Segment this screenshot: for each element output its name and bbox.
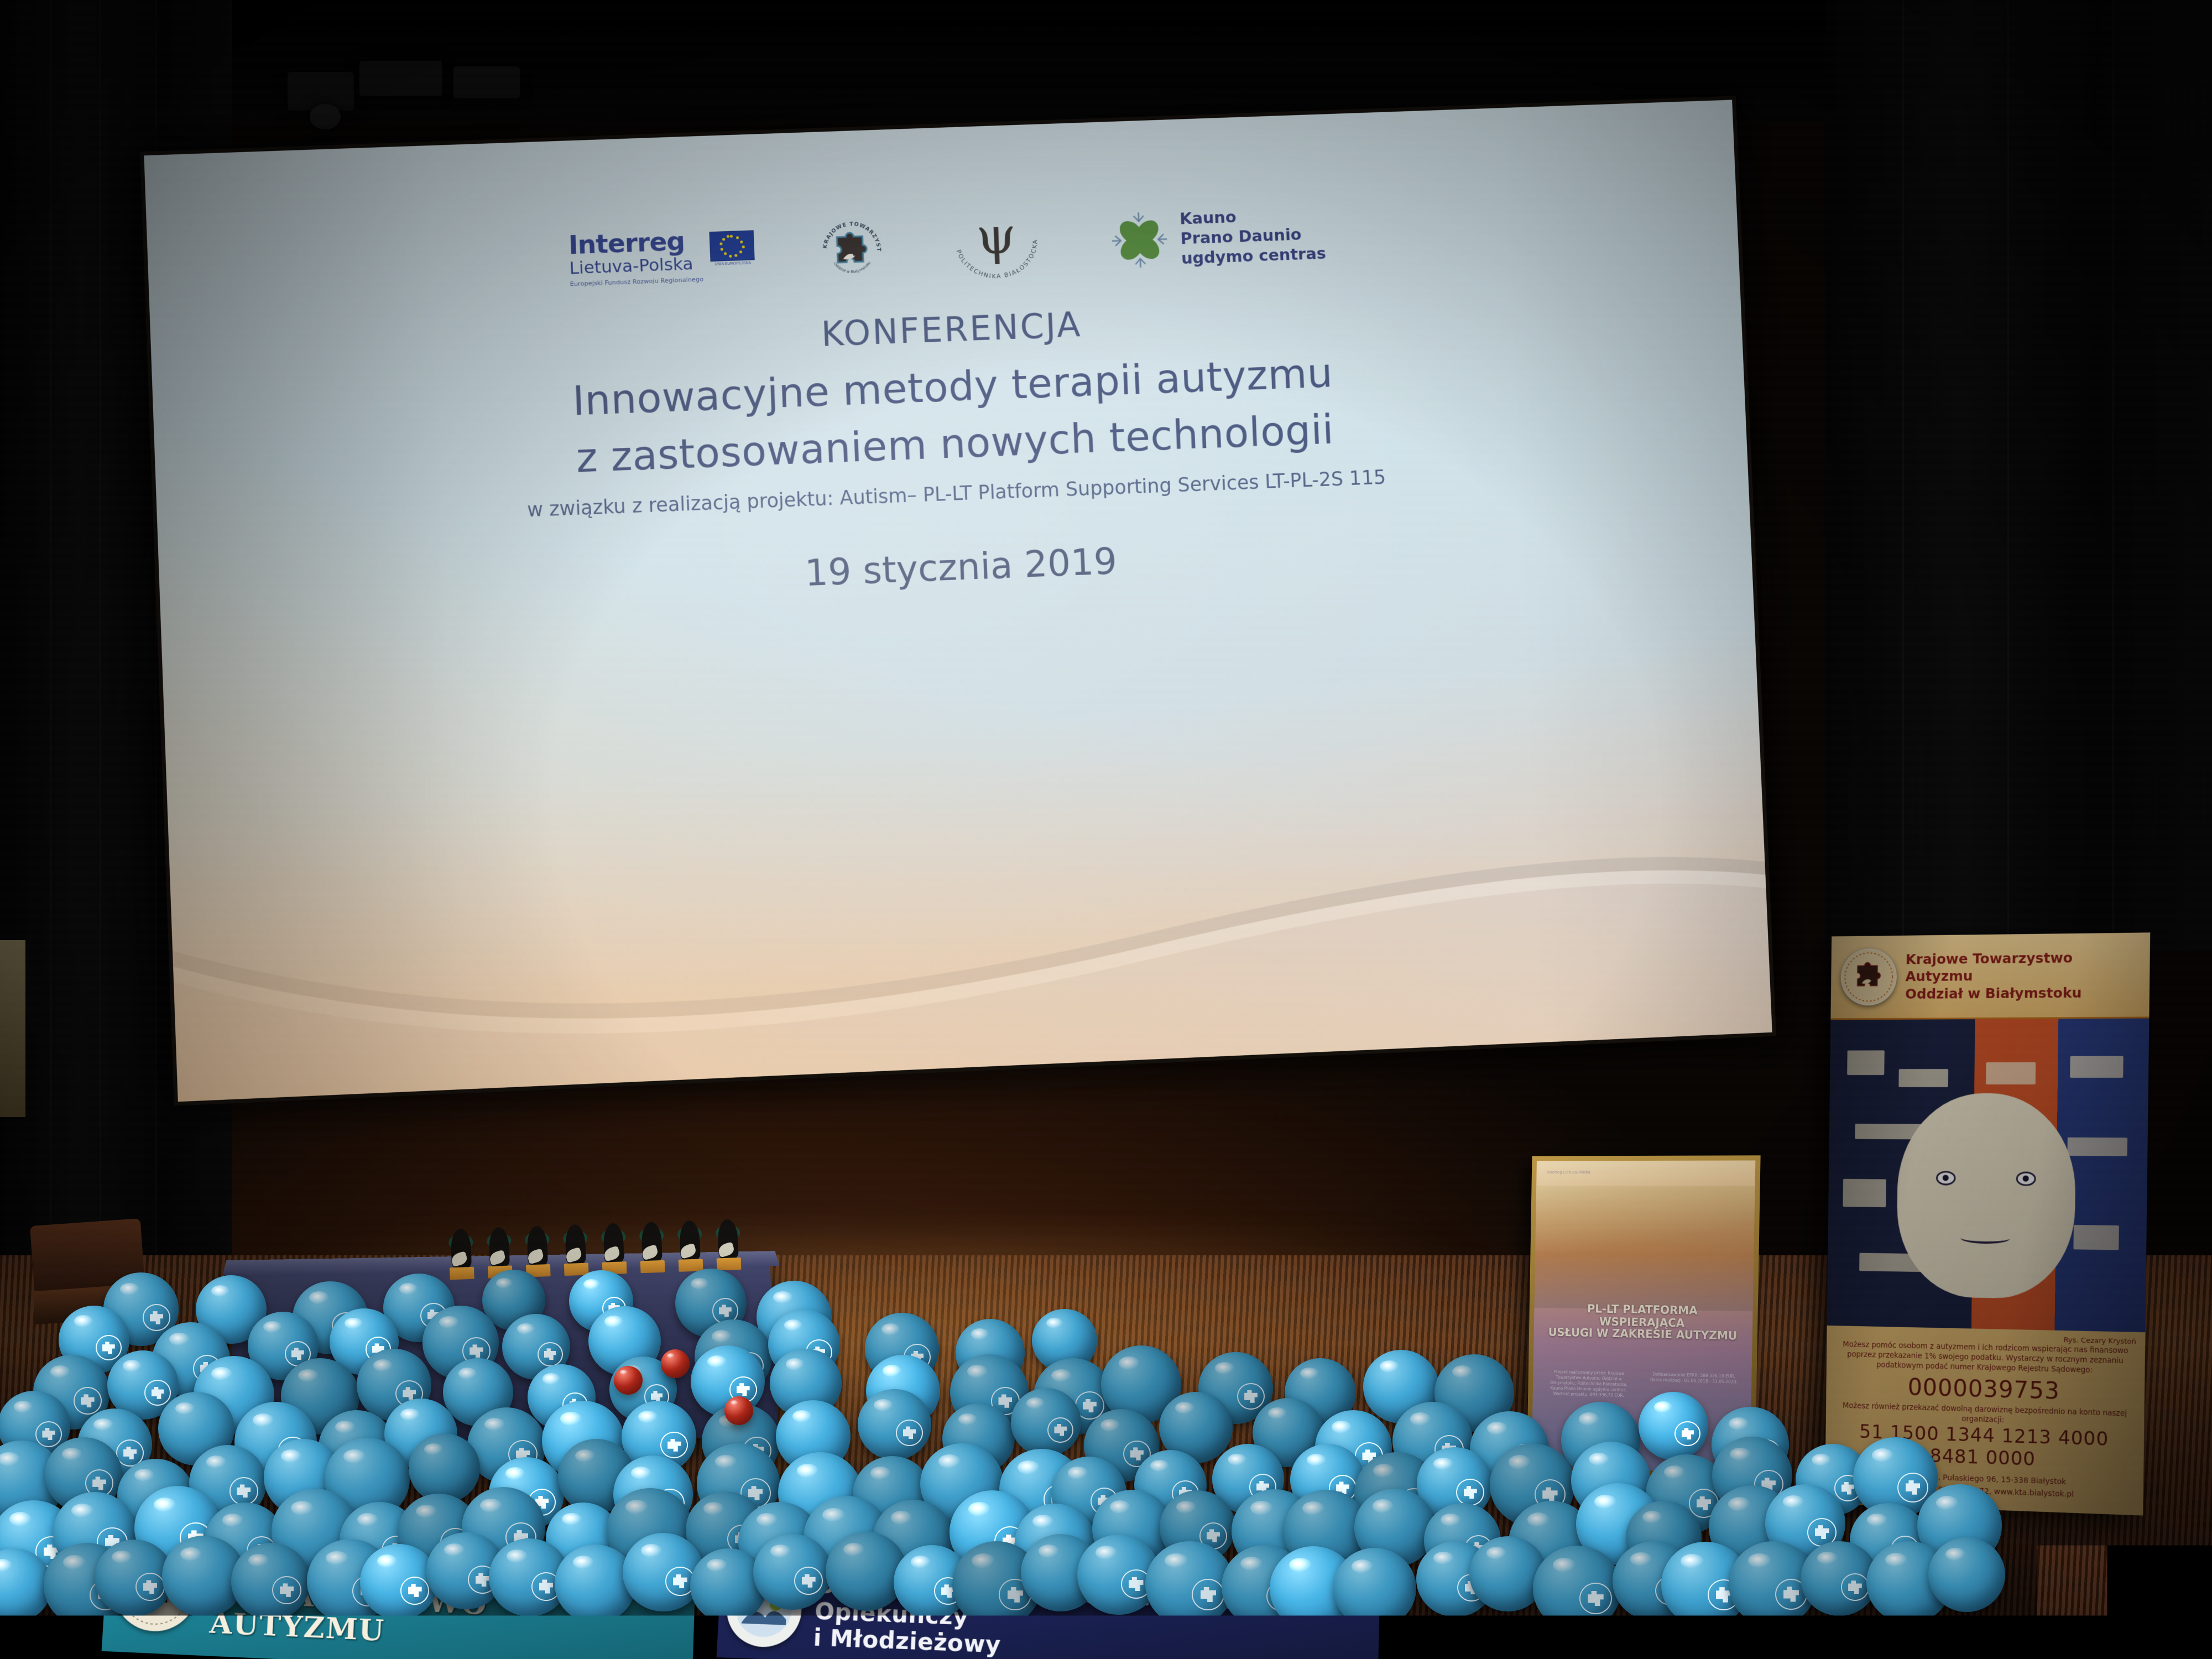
balloon [360,1544,438,1620]
balloon [1533,1546,1621,1631]
rollup-header: Krajowe Towarzystwo Autyzmu Oddział w Bi… [1830,932,2150,1020]
balloon [231,1543,310,1620]
rollup-kta-seal-icon [1840,948,1897,1006]
balloon [1333,1548,1416,1629]
projection-screen: Interreg Lietuva-Polska Europejski Fundu… [144,100,1772,1102]
award-statuette [447,1224,475,1280]
stage-lighting-rig [288,61,597,138]
kauno-prano-daunio-logo: Kauno Prano Daunio ugdymo centras [1108,202,1326,272]
award-statuette [561,1220,589,1276]
conference-stage-photo: Interreg Lietuva-Polska Europejski Fundu… [0,0,2212,1659]
rollup-artwork [1827,1018,2150,1332]
eu-flag-icon [709,231,755,262]
interreg-programme: Lietuva-Polska [569,255,703,278]
balloon [753,1534,832,1610]
kauno-name: Kauno Prano Daunio ugdymo centras [1179,204,1326,268]
balloon-red [724,1396,753,1425]
balloon-red [661,1349,690,1378]
slide-date: 19 stycznia 2019 [159,515,1752,620]
stage-curtain-right [1825,0,2212,951]
politechnika-bialostocka-logo: ψ POLITECHNIKA BIAŁOSTOCKA [947,207,1047,284]
slide-wave-graphic [170,801,1772,1102]
award-statuette [638,1217,666,1274]
balloon [1928,1537,2005,1612]
balloon [1639,1392,1708,1459]
rollup-title-line-2: Oddział w Białymstoku [1905,983,2140,1002]
balloon [858,1389,931,1460]
eu-flag-caption: UNIA EUROPEJSKA [711,262,755,267]
balloon [1011,1388,1082,1457]
balloon-arrangement [0,1288,2013,1659]
award-statuette [523,1221,551,1277]
balloon-red [614,1366,643,1395]
slide-text-block: KONFERENCJA Innowacyjne metody terapii a… [150,280,1751,620]
clover-icon [1108,208,1172,272]
slide-surface: Interreg Lietuva-Polska Europejski Fundu… [144,100,1772,1102]
kta-puzzle-seal-icon: KRAJOWE TOWARZYSTWO AUTYZMU Oddział w Bi… [817,217,885,284]
svg-text:POLITECHNIKA BIAŁOSTOCKA: POLITECHNIKA BIAŁOSTOCKA [954,238,1040,281]
poster-glass-glare [1532,1160,1756,1255]
interreg-logo: Interreg Lietuva-Polska Europejski Fundu… [568,227,755,288]
kta-seal-logo: KRAJOWE TOWARZYSTWO AUTYZMU Oddział w Bi… [817,217,885,284]
left-wall-panel [0,940,25,1117]
balloon [623,1533,704,1611]
award-statuette [676,1215,704,1272]
rollup-title-line-1: Krajowe Towarzystwo Autyzmu [1905,948,2140,985]
pb-ring-text: POLITECHNIKA BIAŁOSTOCKA [954,238,1040,281]
child-face-drawing [1896,1093,2077,1300]
balloon [409,1433,480,1503]
award-statuette [714,1214,742,1271]
award-statuette [599,1218,628,1275]
balloon [1145,1541,1234,1627]
